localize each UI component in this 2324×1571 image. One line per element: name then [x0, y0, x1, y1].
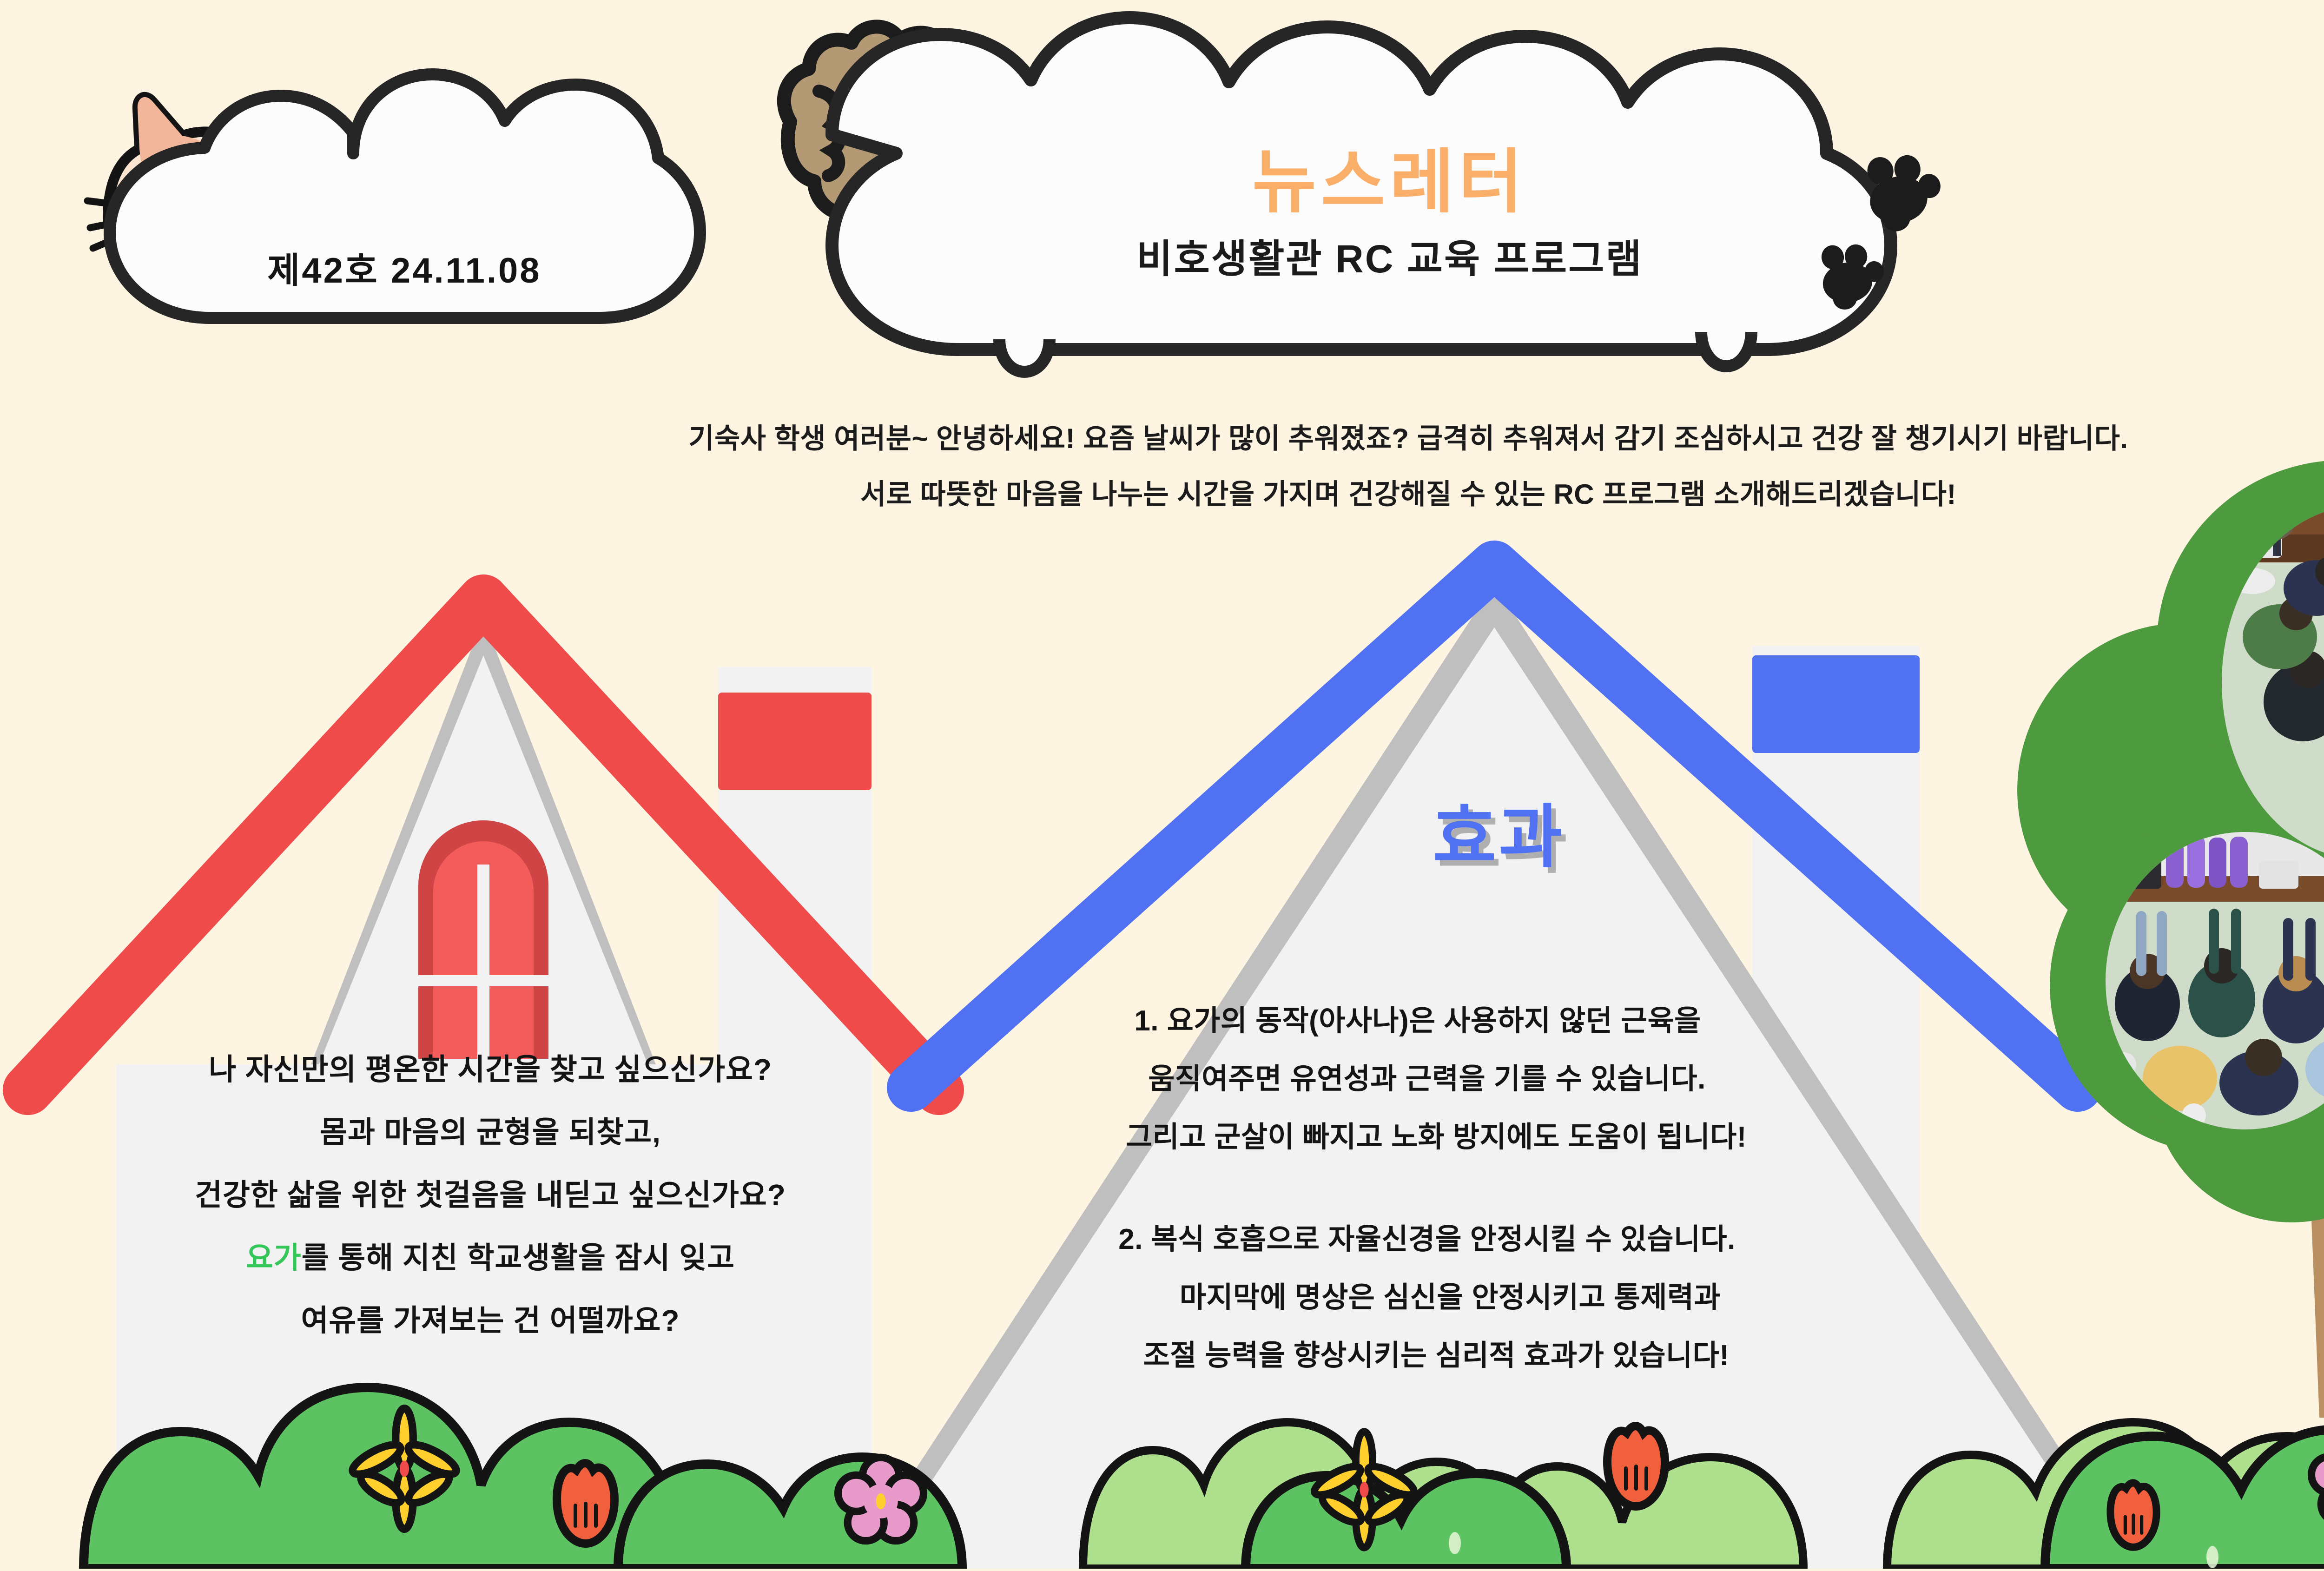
- left-house-line-5: 여유를 가져보는 건 어떨까요?: [301, 1297, 680, 1340]
- effect-2-line-1: 2. 복식 호흡으로 자율신경을 안정시킬 수 있습니다.: [1118, 1215, 1736, 1257]
- effect-2-line-2: 마지막에 명상은 심신을 안정시키고 통제력과: [1180, 1274, 1721, 1315]
- poster-canvas: 제42호 24.11.08 뉴스레터 비호생활관 RC 교육 프로그램 요가 기…: [0, 0, 2324, 1569]
- effect-1-line-3: 그리고 군살이 빠지고 노화 방지에도 도움이 됩니다!: [1126, 1113, 1747, 1155]
- effect-1-line-1: 1. 요가의 동작(아사나)은 사용하지 않던 근육을: [1134, 997, 1701, 1039]
- left-house-line-4: 요가를 통해 지친 학교생활을 잠시 잊고: [246, 1234, 735, 1277]
- left-house-line-2: 몸과 마음의 균형을 되찾고,: [320, 1109, 661, 1151]
- effect-2-line-3: 조절 능력을 향상시키는 심리적 효과가 있습니다!: [1143, 1332, 1730, 1373]
- left-house-highlight-rest: 를 통해 지친 학교생활을 잠시 잊고: [302, 1241, 735, 1274]
- intro-line-1: 기숙사 학생 여러분~ 안녕하세요! 요즘 날씨가 많이 추워졌죠? 급격히 추…: [688, 416, 2128, 456]
- date-badge-text: 제42호 24.11.08: [267, 242, 541, 293]
- left-house-line-1: 나 자신만의 평온한 시간을 찾고 싶으신가요?: [209, 1046, 772, 1089]
- effect-title: 효과: [1433, 781, 1565, 881]
- effect-1-line-2: 움직여주면 유연성과 근력을 기를 수 있습니다.: [1148, 1055, 1706, 1097]
- page-subtitle: 비호생활관 RC 교육 프로그램: [1136, 228, 1643, 284]
- text-layer: 제42호 24.11.08 뉴스레터 비호생활관 RC 교육 프로그램 요가 기…: [0, 0, 2324, 1569]
- left-house-highlight: 요가: [246, 1241, 302, 1274]
- page-title: 뉴스레터: [1252, 125, 1527, 226]
- intro-line-2: 서로 따뜻한 마음을 나누는 시간을 가지며 건강해질 수 있는 RC 프로그램…: [860, 472, 1956, 512]
- left-house-line-3: 건강한 삶을 위한 첫걸음을 내딛고 싶으신가요?: [195, 1171, 786, 1214]
